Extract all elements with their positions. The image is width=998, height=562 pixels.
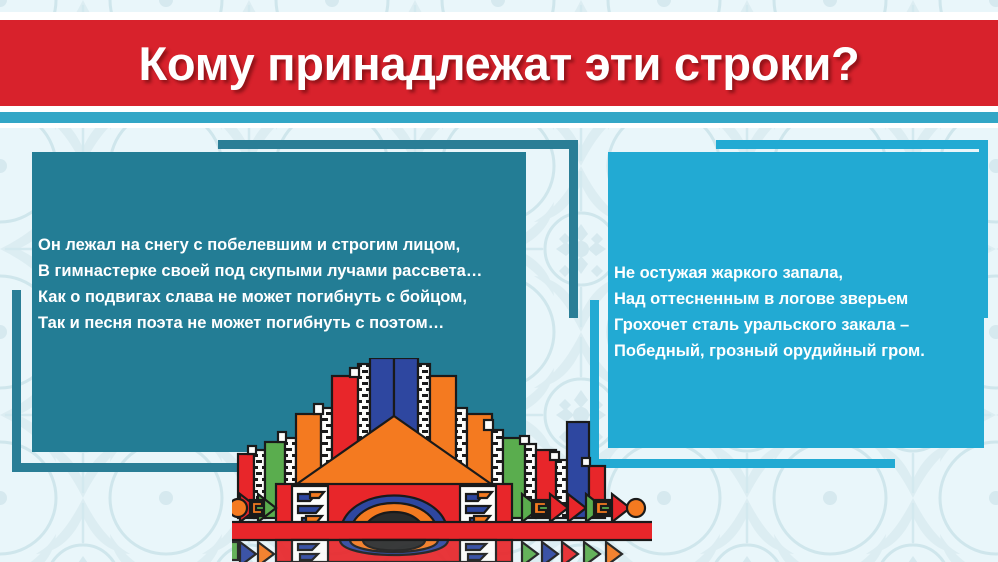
folk-ornament-illustration <box>232 358 652 562</box>
page-title: Кому принадлежат эти строки? <box>0 20 998 106</box>
right-quote-text: Не остужая жаркого запала, Над оттесненн… <box>614 260 984 364</box>
stripe-white-gap <box>0 123 998 128</box>
accent-stripe <box>0 112 998 123</box>
top-white-band <box>0 12 998 20</box>
left-quote-text: Он лежал на снегу с побелевшим и строгим… <box>38 232 558 336</box>
slide-root: Кому принадлежат эти строки? Он лежал на… <box>0 0 998 562</box>
